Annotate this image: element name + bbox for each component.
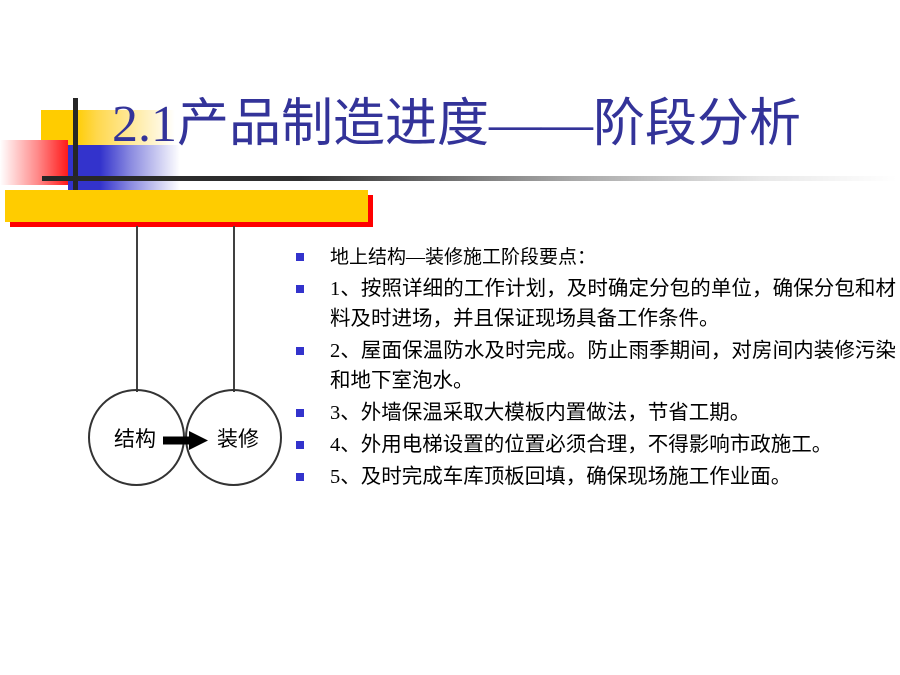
list-item-text: 5、及时完成车库顶板回填，确保现场施工作业面。 — [330, 462, 896, 492]
decor-vertical-rule — [73, 98, 78, 198]
list-item: 地上结构—装修施工阶段要点： — [296, 243, 896, 272]
list-item: 1、按照详细的工作计划，及时确定分包的单位，确保分包和材料及时进场，并且保证现场… — [296, 274, 896, 334]
list-item: 4、外用电梯设置的位置必须合理，不得影响市政施工。 — [296, 430, 896, 460]
list-item: 3、外墙保温采取大模板内置做法，节省工期。 — [296, 398, 896, 428]
diagram-circle-label-decoration: 装修 — [208, 424, 268, 454]
bullet-square-icon — [296, 473, 304, 481]
list-item: 5、及时完成车库顶板回填，确保现场施工作业面。 — [296, 462, 896, 492]
banner-bar — [5, 190, 368, 222]
bullet-list: 地上结构—装修施工阶段要点： 1、按照详细的工作计划，及时确定分包的单位，确保分… — [296, 243, 896, 494]
bullet-square-icon — [296, 347, 304, 355]
bullet-square-icon — [296, 409, 304, 417]
list-item: 2、屋面保温防水及时完成。防止雨季期间，对房间内装修污染和地下室泡水。 — [296, 336, 896, 396]
bullet-square-icon — [296, 253, 304, 261]
list-item-text: 地上结构—装修施工阶段要点： — [330, 243, 896, 272]
bullet-square-icon — [296, 441, 304, 449]
list-item-text: 3、外墙保温采取大模板内置做法，节省工期。 — [330, 398, 896, 428]
connector-line-right — [233, 226, 235, 392]
list-item-text: 1、按照详细的工作计划，及时确定分包的单位，确保分包和材料及时进场，并且保证现场… — [330, 274, 896, 334]
presentation-slide: 2.1产品制造进度——阶段分析 结构 装修 地上结构—装修施工阶段要点： 1、按… — [0, 0, 900, 675]
connector-line-left — [136, 226, 138, 392]
right-arrow-icon — [163, 431, 208, 450]
list-item-text: 4、外用电梯设置的位置必须合理，不得影响市政施工。 — [330, 430, 896, 460]
decor-horizontal-rule — [42, 176, 897, 181]
diagram-circle-label-structure: 结构 — [105, 424, 165, 454]
list-item-text: 2、屋面保温防水及时完成。防止雨季期间，对房间内装修污染和地下室泡水。 — [330, 336, 896, 396]
page-title: 2.1产品制造进度——阶段分析 — [112, 96, 900, 154]
bullet-square-icon — [296, 285, 304, 293]
